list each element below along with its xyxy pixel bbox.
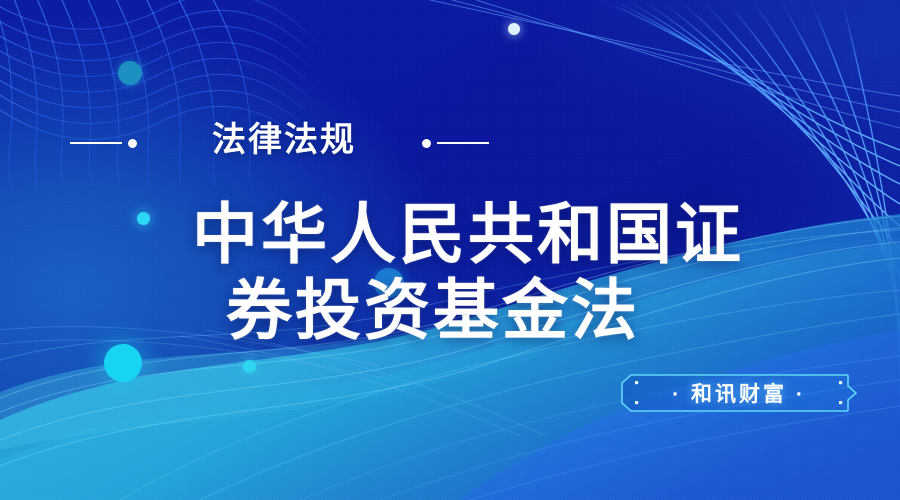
brand-badge: · 和讯财富 · bbox=[620, 374, 858, 412]
decorative-rule-right bbox=[422, 138, 489, 148]
title-line-1: 中华人民共和国证 bbox=[0, 196, 900, 272]
promotional-banner: 法律法规 中华人民共和国证 券投资基金法 · 和讯财富 · bbox=[0, 0, 900, 500]
rule-dot-left bbox=[128, 139, 137, 148]
page-title: 中华人民共和国证 券投资基金法 bbox=[0, 196, 900, 348]
decorative-dot-white-top bbox=[508, 23, 520, 35]
decorative-dot-cyan-mid bbox=[243, 360, 256, 373]
rule-dot-right bbox=[422, 139, 431, 148]
decorative-dot-cyan-large bbox=[104, 344, 142, 382]
rule-line-left bbox=[70, 142, 122, 144]
eyebrow-label: 法律法规 bbox=[184, 112, 384, 168]
title-line-2: 券投资基金法 bbox=[0, 272, 900, 348]
rule-line-right bbox=[437, 142, 489, 144]
decorative-dot-teal-top bbox=[118, 61, 142, 85]
eyebrow-row: 法律法规 bbox=[0, 112, 900, 172]
badge-label: · 和讯财富 · bbox=[620, 374, 858, 412]
decorative-rule-left bbox=[70, 138, 137, 148]
